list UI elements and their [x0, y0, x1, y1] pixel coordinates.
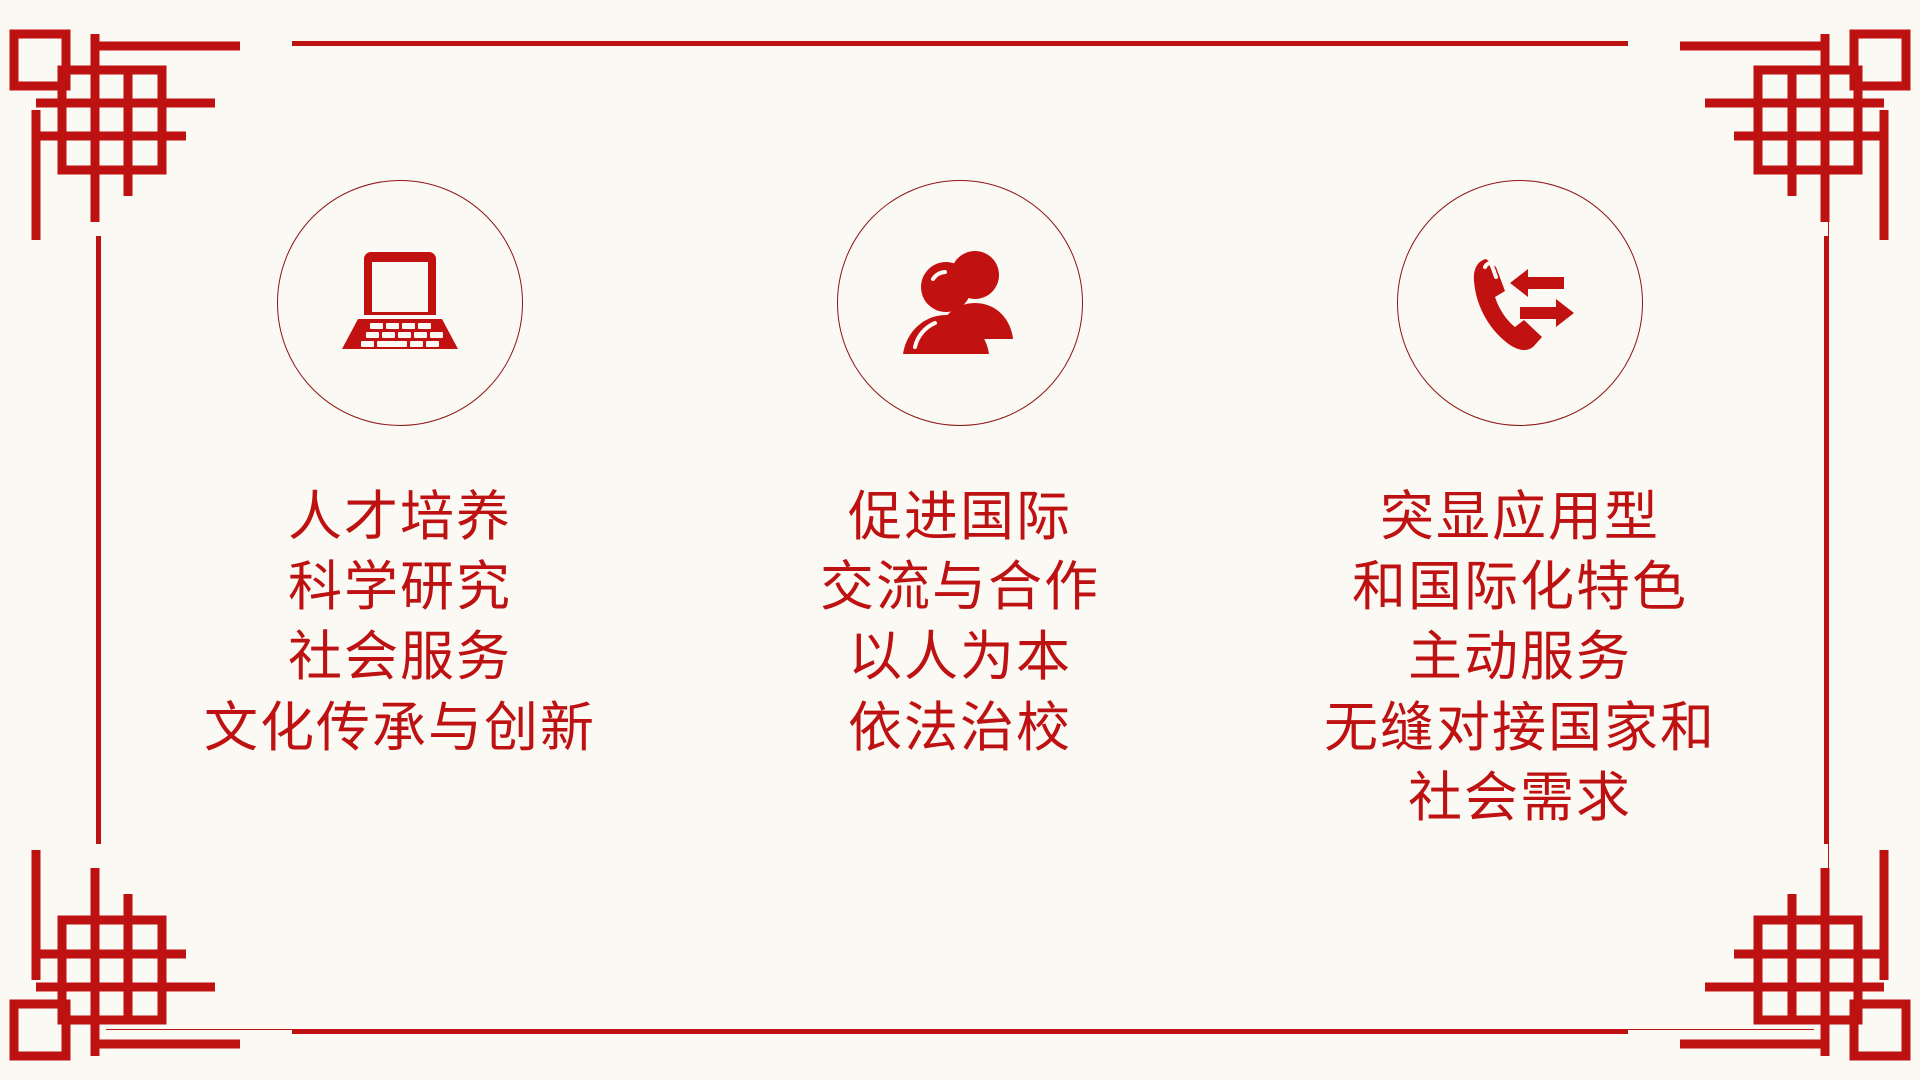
caption-line: 依法治校 [820, 693, 1100, 763]
frame-gap-left-bottom [92, 844, 106, 1044]
column-international-exchange: 促进国际 交流与合作 以人为本 依法治校 [700, 180, 1220, 763]
caption-line: 和国际化特色 [1324, 552, 1716, 622]
frame-gap-right-top [1814, 36, 1828, 236]
caption-1: 人才培养 科学研究 社会服务 文化传承与创新 [204, 482, 596, 763]
frame-gap-bottom-left [92, 1030, 292, 1044]
slide-root: 人才培养 科学研究 社会服务 文化传承与创新 [0, 0, 1920, 1080]
caption-line: 促进国际 [820, 482, 1100, 552]
frame-gap-left-top [92, 36, 106, 236]
caption-2: 促进国际 交流与合作 以人为本 依法治校 [820, 482, 1100, 763]
phone-exchange-icon [1466, 251, 1574, 355]
frame-gap-top-right [1628, 36, 1828, 50]
laptop-icon [340, 251, 460, 355]
caption-line: 以人为本 [820, 622, 1100, 692]
caption-line: 社会需求 [1324, 763, 1716, 833]
corner-ornament-bottom-right [1680, 850, 1920, 1080]
caption-line: 主动服务 [1324, 622, 1716, 692]
caption-line: 无缝对接国家和 [1324, 693, 1716, 763]
caption-line: 人才培养 [204, 482, 596, 552]
caption-line: 科学研究 [204, 552, 596, 622]
column-applied-international: 突显应用型 和国际化特色 主动服务 无缝对接国家和 社会需求 [1260, 180, 1780, 833]
column-talent-cultivation: 人才培养 科学研究 社会服务 文化传承与创新 [140, 180, 660, 763]
caption-line: 文化传承与创新 [204, 693, 596, 763]
content-columns: 人才培养 科学研究 社会服务 文化传承与创新 [120, 180, 1800, 833]
two-people-icon [901, 249, 1019, 357]
icon-circle-1[interactable] [277, 180, 523, 426]
icon-circle-3[interactable] [1397, 180, 1643, 426]
frame-gap-bottom-right [1628, 1030, 1828, 1044]
caption-line: 交流与合作 [820, 552, 1100, 622]
caption-3: 突显应用型 和国际化特色 主动服务 无缝对接国家和 社会需求 [1324, 482, 1716, 833]
corner-ornament-bottom-left [0, 850, 240, 1080]
frame-gap-right-bottom [1814, 844, 1828, 1044]
frame-gap-top-left [92, 36, 292, 50]
caption-line: 社会服务 [204, 622, 596, 692]
caption-line: 突显应用型 [1324, 482, 1716, 552]
icon-circle-2[interactable] [837, 180, 1083, 426]
